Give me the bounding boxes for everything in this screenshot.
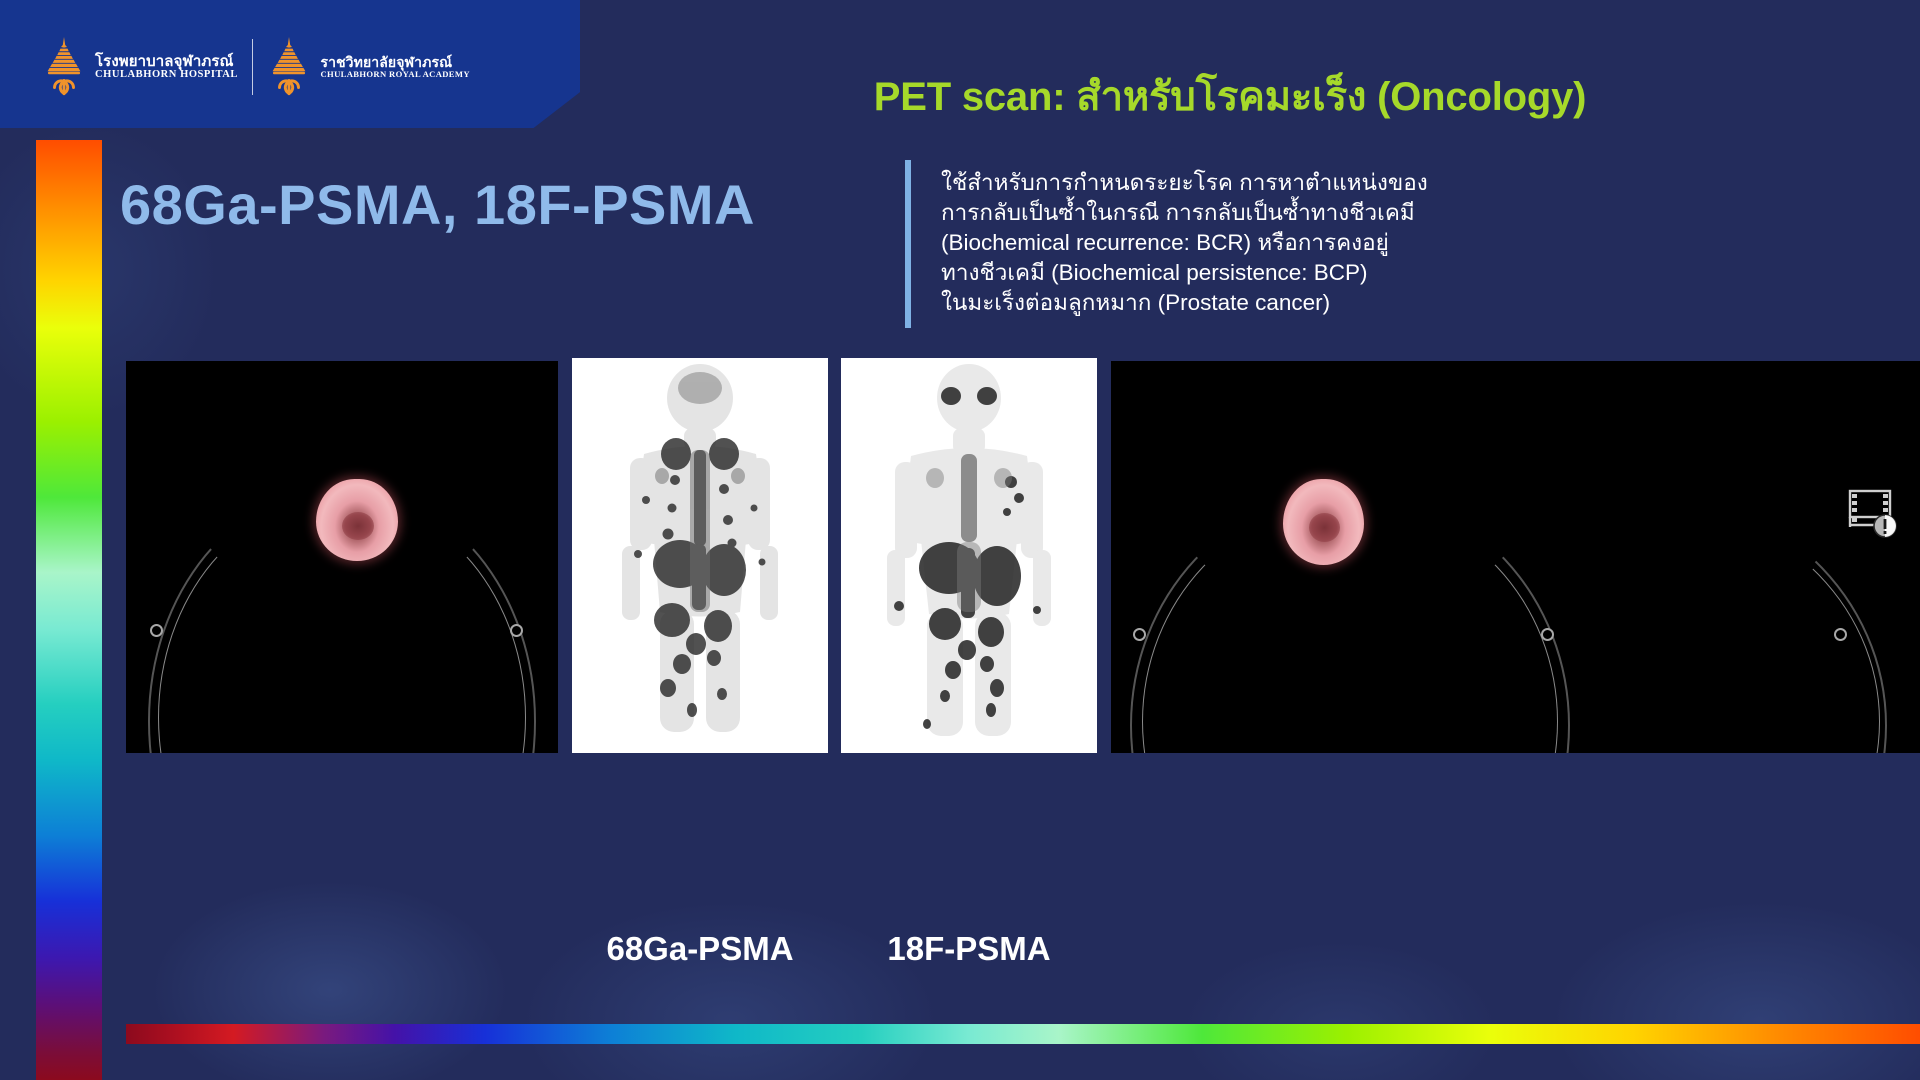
scanner-couch-arc-inner <box>1142 502 1558 753</box>
couch-end-marker <box>1834 628 1847 641</box>
axial-fused-pet-ct-right-extension <box>1589 361 1920 753</box>
caption-68ga-psma: 68Ga-PSMA <box>572 930 828 968</box>
mip-68ga-psma-image <box>572 358 828 753</box>
chulabhorn-emblem-icon <box>42 36 86 98</box>
logo-row: โรงพยาบาลจุฬาภรณ์ CHULABHORN HOSPITAL <box>42 36 470 98</box>
mip-68ga-psma <box>572 358 828 753</box>
logo-english-name: CHULABHORN ROYAL ACADEMY <box>320 70 469 79</box>
description-line: ใช้สำหรับการกำหนดระยะโรค การหาตำแหน่งของ <box>941 168 1501 198</box>
axial-fused-pet-ct-right <box>1111 361 1589 753</box>
logo-thai-name: ราชวิทยาลัยจุฬาภรณ์ <box>320 55 469 70</box>
description-accent-rule <box>905 160 911 328</box>
chulabhorn-emblem-icon <box>267 36 311 98</box>
logo-text-block: โรงพยาบาลจุฬาภรณ์ CHULABHORN HOSPITAL <box>95 54 238 81</box>
axial-fused-pet-ct-left <box>126 361 558 753</box>
scanner-couch-arc-inner <box>1589 502 1880 753</box>
logo-chulabhorn-hospital: โรงพยาบาลจุฬาภรณ์ CHULABHORN HOSPITAL <box>42 36 238 98</box>
caption-18f-psma: 18F-PSMA <box>841 930 1097 968</box>
mip-18f-psma-image <box>841 358 1097 753</box>
description-line: การกลับเป็นซ้ำในกรณี การกลับเป็นซ้ำทางชี… <box>941 198 1501 228</box>
description-line: (Biochemical recurrence: BCR) หรือการคงอ… <box>941 228 1501 258</box>
pet-colorbar-horizontal <box>126 1024 1920 1044</box>
background-glow <box>150 880 510 1080</box>
description-line: ในมะเร็งต่อมลูกหมาก (Prostate cancer) <box>941 288 1501 318</box>
background-glow <box>520 900 940 1080</box>
logo-divider <box>252 39 254 95</box>
pet-colorbar-vertical <box>36 140 102 1080</box>
couch-end-marker <box>1541 628 1554 641</box>
couch-end-marker <box>1133 628 1146 641</box>
couch-end-marker <box>150 624 163 637</box>
description-text: ใช้สำหรับการกำหนดระยะโรค การหาตำแหน่งของ… <box>941 168 1501 318</box>
description-line: ทางชีวเคมี (Biochemical persistence: BCP… <box>941 258 1501 288</box>
background-glow <box>1550 900 1920 1080</box>
logo-thai-name: โรงพยาบาลจุฬาภรณ์ <box>95 54 238 70</box>
background-glow <box>1180 940 1500 1080</box>
logo-text-block: ราชวิทยาลัยจุฬาภรณ์ CHULABHORN ROYAL ACA… <box>320 55 469 79</box>
page-title: PET scan: สำหรับโรคมะเร็ง (Oncology) <box>560 64 1900 128</box>
logo-chulabhorn-royal-academy: ราชวิทยาลัยจุฬาภรณ์ CHULABHORN ROYAL ACA… <box>267 36 469 98</box>
film-strip-icon[interactable] <box>1845 485 1901 541</box>
slide: โรงพยาบาลจุฬาภรณ์ CHULABHORN HOSPITAL <box>0 0 1920 1080</box>
mip-18f-psma <box>841 358 1097 753</box>
compound-heading: 68Ga-PSMA, 18F-PSMA <box>120 172 900 237</box>
scanner-couch-arc-inner <box>158 498 525 753</box>
logo-english-name: CHULABHORN HOSPITAL <box>95 69 238 80</box>
